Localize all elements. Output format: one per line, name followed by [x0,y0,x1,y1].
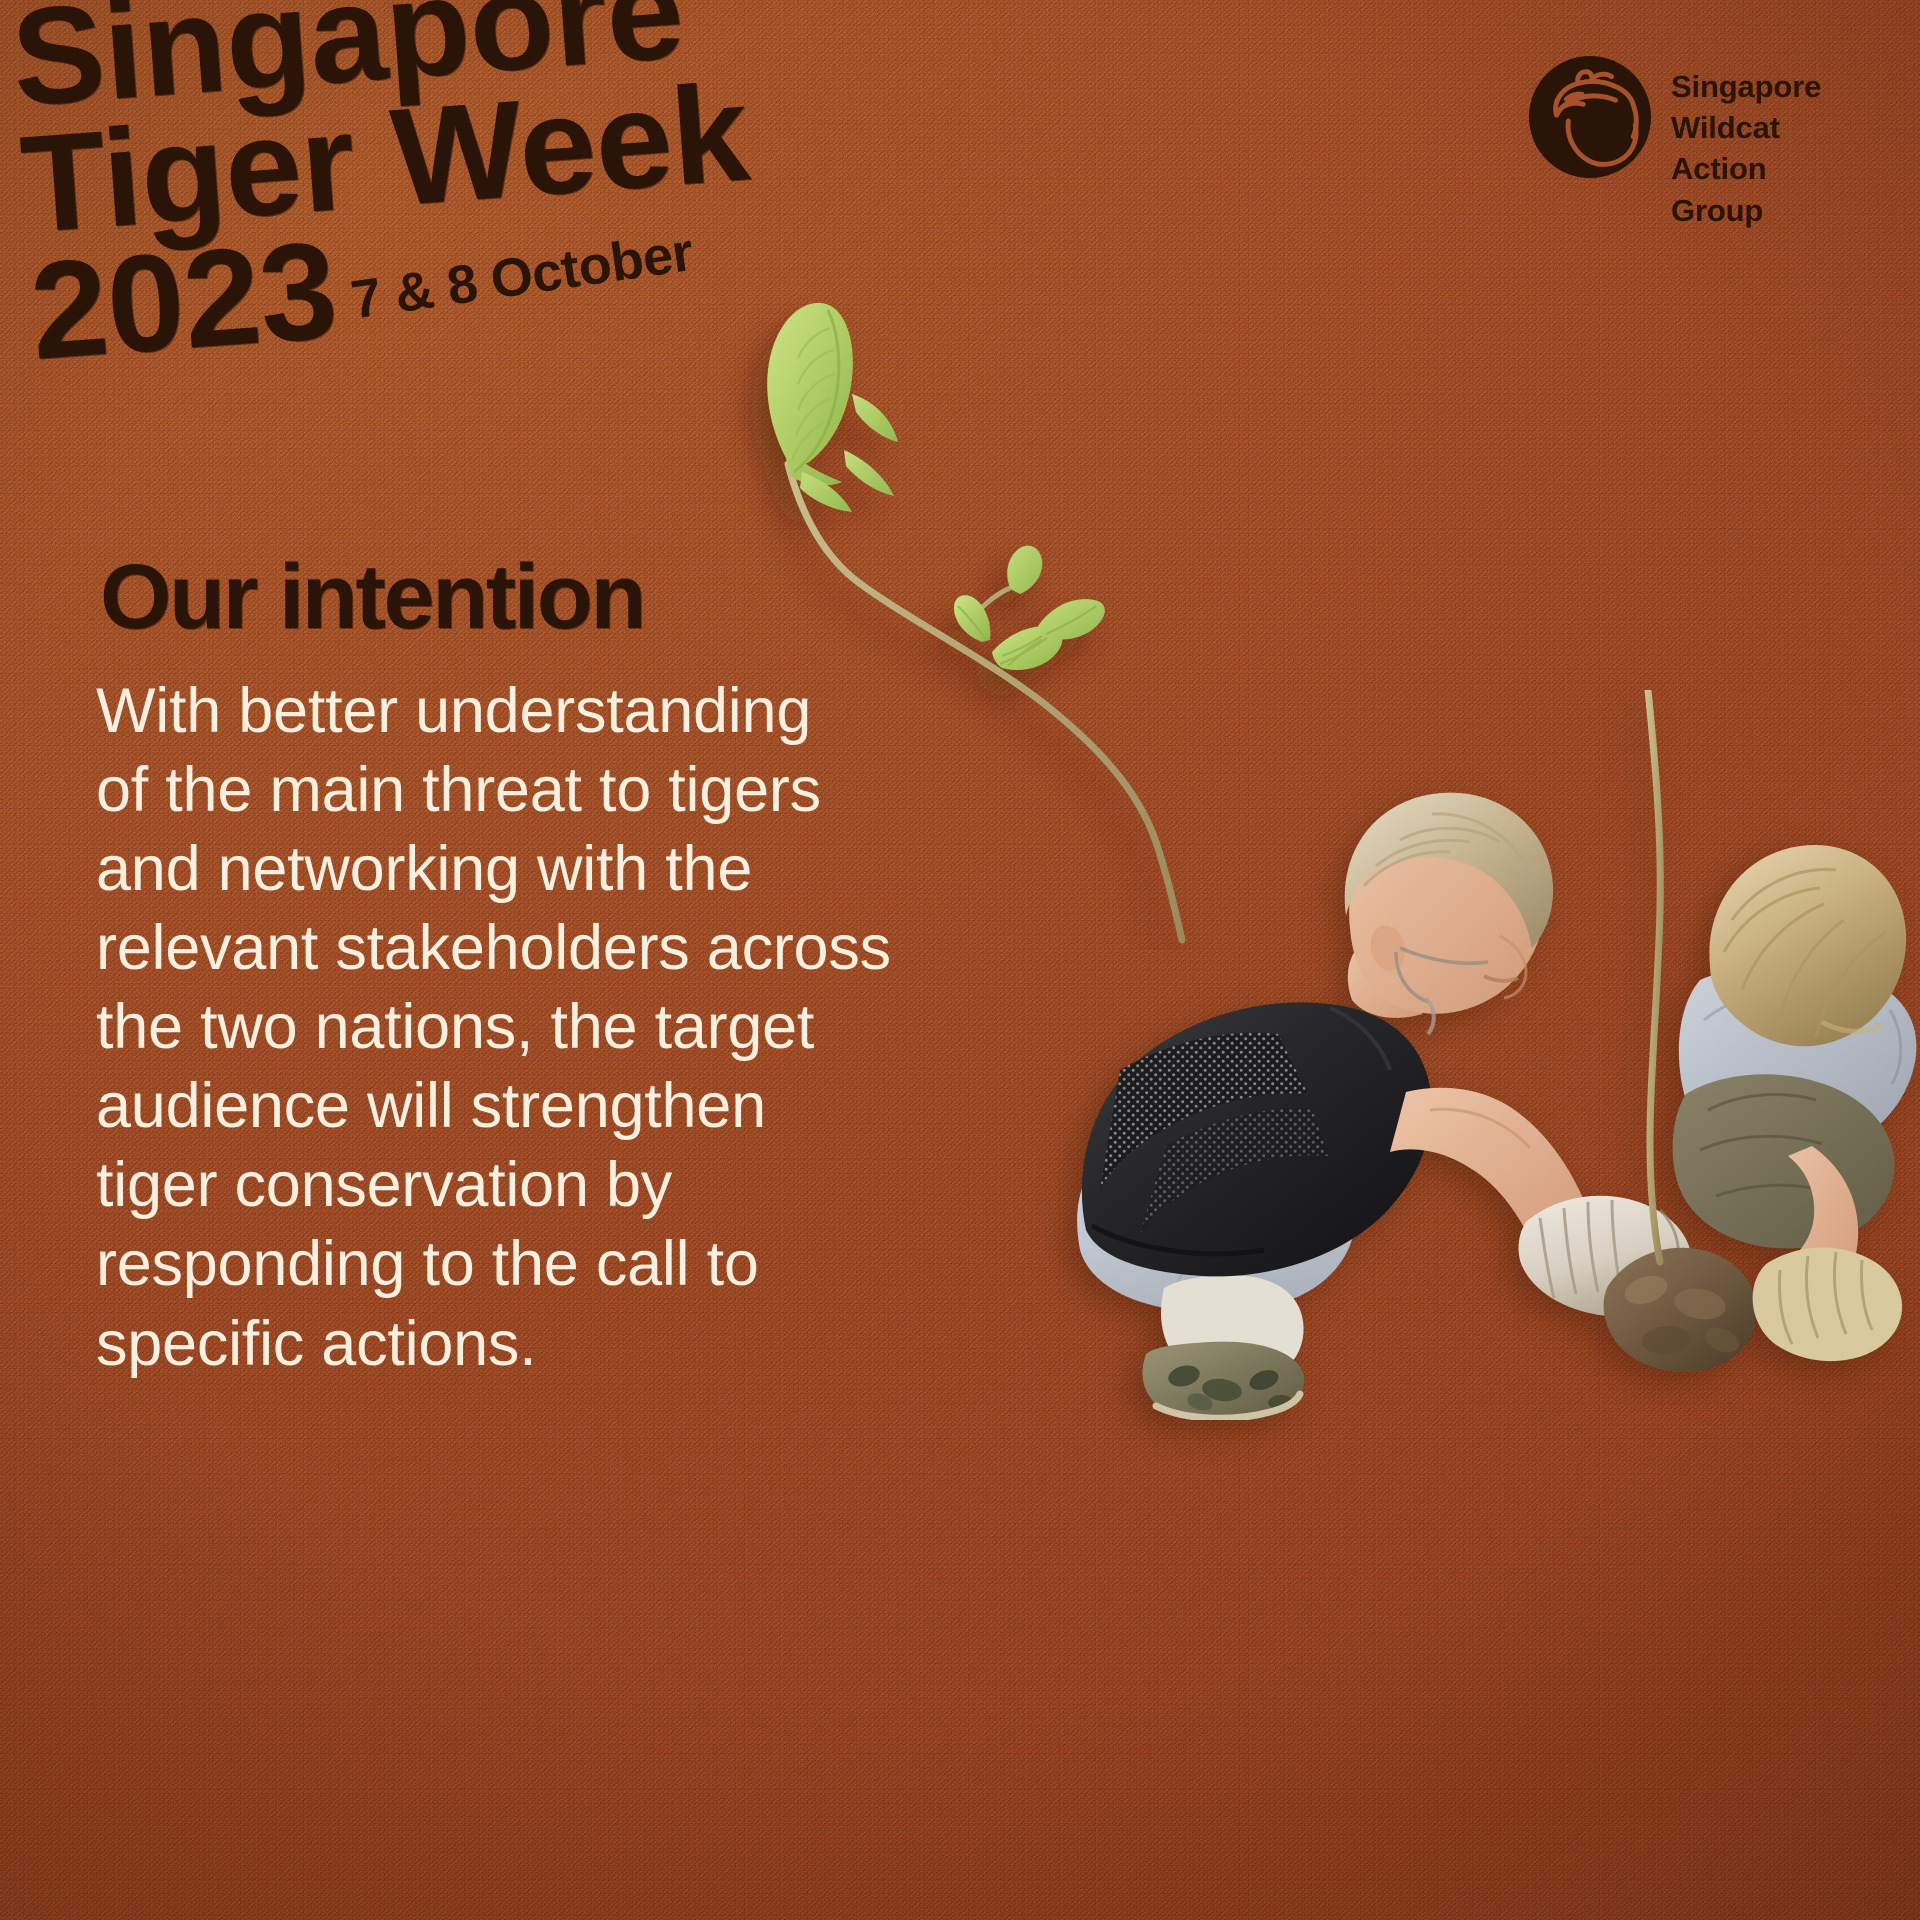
organisation-name: Singapore Wildcat Action Group [1671,54,1821,231]
body-line: of the main threat to tigers [96,751,896,830]
logo-text-line-2: Wildcat [1671,107,1821,148]
body-line: responding to the call to [96,1225,896,1304]
logo-text-line-4: Group [1671,190,1821,231]
organisation-logo: Singapore Wildcat Action Group [1527,54,1821,231]
logo-text-line-1: Singapore [1671,66,1821,107]
event-dates: 7 & 8 October [348,228,696,326]
body-line: relevant stakeholders across [96,909,896,988]
poster-canvas: Singapore Tiger Week 2023 7 & 8 October [0,0,1920,1920]
body-line: and networking with the [96,830,896,909]
title-year: 2023 [27,227,341,376]
body-line: the two nations, the target [96,988,896,1067]
event-title-block: Singapore Tiger Week 2023 7 & 8 October [8,0,762,376]
wildcat-head-circle-icon [1527,54,1653,180]
section-heading: Our intention [100,545,644,650]
section-body-copy: With better understanding of the main th… [96,672,896,1384]
body-line: With better understanding [96,672,896,751]
body-line: audience will strengthen [96,1067,896,1146]
logo-text-line-3: Action [1671,148,1821,189]
body-line: specific actions. [96,1305,896,1384]
body-line: tiger conservation by [96,1146,896,1225]
planting-photo [960,690,1920,1420]
